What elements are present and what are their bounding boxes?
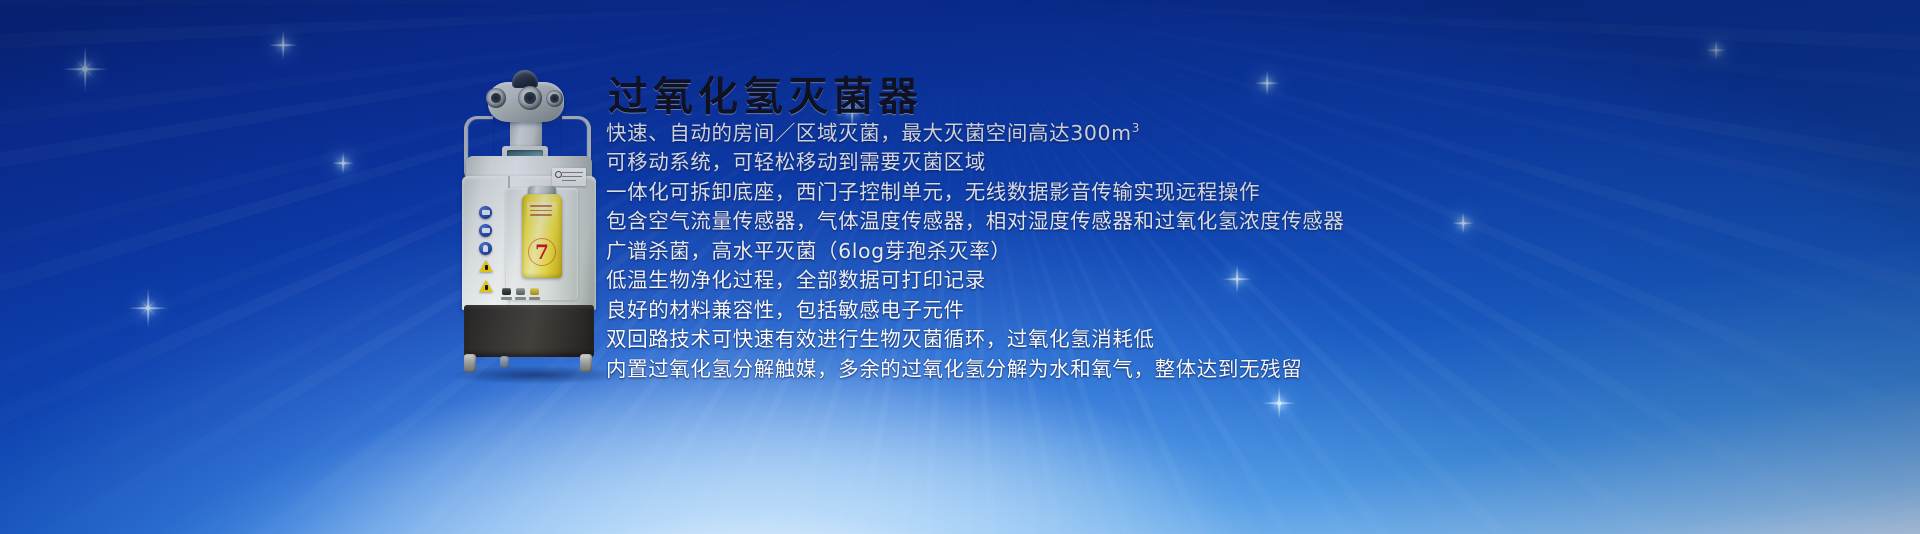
peroxide-bottle: 7: [522, 194, 562, 278]
device-caster-wheel-icon: [580, 354, 592, 372]
feature-item-text: 双回路技术可快速有效进行生物灭菌循环，过氧化氢消耗低: [606, 327, 1155, 351]
feature-item: 广谱杀菌，高水平灭菌（6log芽孢杀灭率）: [606, 237, 1896, 267]
device-caster-wheel-icon: [464, 354, 476, 372]
safety-pictogram-icon: [479, 206, 492, 219]
device-nozzle-icon: [546, 90, 563, 107]
feature-item-text: 包含空气流量传感器，气体温度传感器，相对湿度传感器和过氧化氢浓度传感器: [606, 209, 1345, 233]
sparkle-star: [332, 152, 354, 174]
sparkle-star: [1254, 70, 1280, 96]
sparkle-star: [1706, 40, 1726, 60]
device-port-label: [501, 297, 512, 300]
product-banner: 7 过氧化氢灭菌器 快速、自动的房间／区域灭菌，最大灭菌空间高达300m3 可移…: [0, 0, 1920, 534]
feature-item: 可移动系统，可轻松移动到需要灭菌区域: [606, 148, 1896, 178]
safety-pictogram-icon: [479, 224, 492, 237]
warning-triangle-icon: [479, 280, 493, 292]
sparkle-star: [1262, 386, 1296, 420]
feature-item: 快速、自动的房间／区域灭菌，最大灭菌空间高达300m3: [606, 114, 1896, 148]
feature-item-superscript: 3: [1132, 121, 1140, 135]
feature-item-text: 内置过氧化氢分解触媒，多余的过氧化氢分解为水和氧气，整体达到无残留: [606, 357, 1302, 381]
sparkle-star: [128, 288, 168, 328]
feature-item-text: 广谱杀菌，高水平灭菌（6log芽孢杀灭率）: [606, 239, 1011, 263]
device-caster-wheel-icon: [500, 356, 509, 368]
device-port-icon: [530, 288, 539, 295]
sparkle-star: [62, 46, 108, 92]
device-base-plinth: [464, 305, 594, 357]
warning-triangle-icon: [479, 260, 493, 272]
device-port-label: [515, 297, 526, 300]
device-nozzle-icon: [486, 88, 506, 108]
device-port-icon: [516, 288, 525, 295]
feature-item-text: 快速、自动的房间／区域灭菌，最大灭菌空间高达300m: [606, 121, 1132, 145]
feature-item-text: 可移动系统，可轻松移动到需要灭菌区域: [606, 150, 986, 174]
device-port-label: [529, 297, 540, 300]
safety-pictogram-icon: [479, 242, 492, 255]
product-device-image: 7: [440, 60, 630, 380]
feature-item: 包含空气流量传感器，气体温度传感器，相对湿度传感器和过氧化氢浓度传感器: [606, 207, 1896, 237]
feature-item: 良好的材料兼容性，包括敏感电子元件: [606, 296, 1896, 326]
feature-item: 一体化可拆卸底座，西门子控制单元，无线数据影音传输实现远程操作: [606, 178, 1896, 208]
feature-list: 快速、自动的房间／区域灭菌，最大灭菌空间高达300m3 可移动系统，可轻松移动到…: [606, 114, 1896, 384]
bottle-number: 7: [522, 240, 562, 264]
feature-item: 低温生物净化过程，全部数据可打印记录: [606, 266, 1896, 296]
feature-item-text: 低温生物净化过程，全部数据可打印记录: [606, 268, 986, 292]
bottle-label-text-lines: [530, 205, 552, 219]
feature-item-text: 良好的材料兼容性，包括敏感电子元件: [606, 298, 965, 322]
feature-item-text: 一体化可拆卸底座，西门子控制单元，无线数据影音传输实现远程操作: [606, 180, 1260, 204]
feature-item: 双回路技术可快速有效进行生物灭菌循环，过氧化氢消耗低: [606, 325, 1896, 355]
device-port-icon: [502, 288, 511, 295]
sparkle-star: [268, 30, 298, 60]
feature-item: 内置过氧化氢分解触媒，多余的过氧化氢分解为水和氧气，整体达到无残留: [606, 355, 1896, 385]
device-nozzle-icon: [518, 86, 542, 110]
device-spec-label: [552, 168, 586, 186]
device-top-cap: [512, 70, 538, 88]
